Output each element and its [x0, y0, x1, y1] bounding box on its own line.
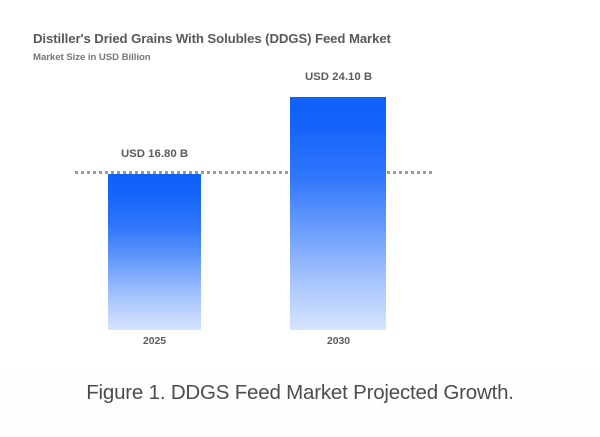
x-axis-tick-2025: 2025 — [98, 336, 211, 347]
bar-value-label-2025: USD 16.80 B — [98, 148, 211, 160]
figure-container: Distiller's Dried Grains With Solubles (… — [0, 0, 600, 437]
bar-2030[interactable] — [290, 97, 386, 330]
figure-caption: Figure 1. DDGS Feed Market Projected Gro… — [0, 381, 600, 405]
bar-value-label-2030: USD 24.10 B — [282, 71, 395, 83]
bar-2025[interactable] — [108, 174, 201, 330]
bar-chart: Distiller's Dried Grains With Solubles (… — [0, 0, 600, 372]
plot-area: USD 16.80 B USD 24.10 B 2025 2030 — [0, 0, 600, 372]
x-axis-tick-2030: 2030 — [282, 336, 395, 347]
